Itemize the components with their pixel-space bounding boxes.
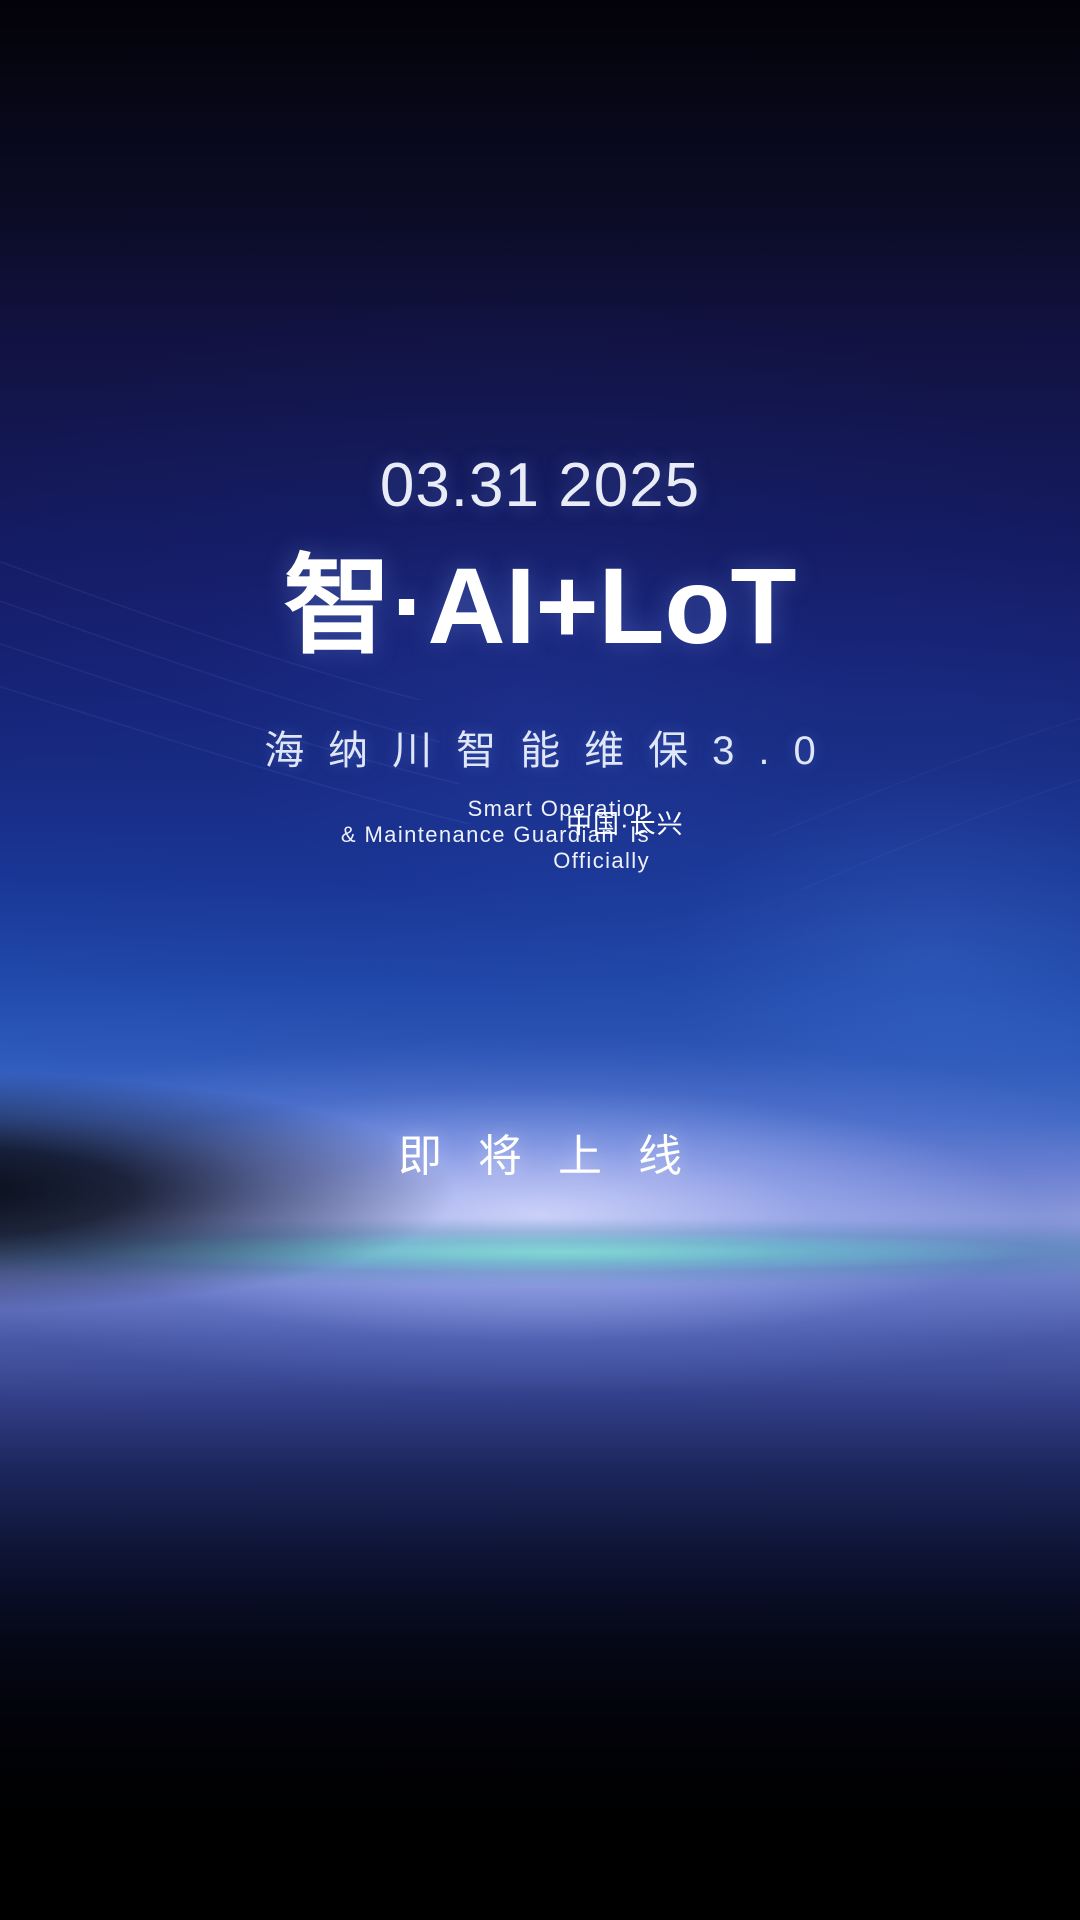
product-subtitle-chinese: 海纳川智能维保3.0	[0, 726, 1080, 776]
coming-soon-label: 即将上线	[0, 1120, 1080, 1184]
event-date: 03.31 2025	[0, 455, 1080, 517]
poster-content: 03.31 2025 智·AI+LoT 海纳川智能维保3.0 Smart Ope…	[0, 0, 1080, 1920]
english-line-3: Officially	[180, 848, 650, 874]
event-location: 中国·长兴	[566, 804, 684, 841]
page-title: 智·AI+LoT	[0, 548, 1080, 665]
poster-canvas: 03.31 2025 智·AI+LoT 海纳川智能维保3.0 Smart Ope…	[0, 0, 1080, 1920]
